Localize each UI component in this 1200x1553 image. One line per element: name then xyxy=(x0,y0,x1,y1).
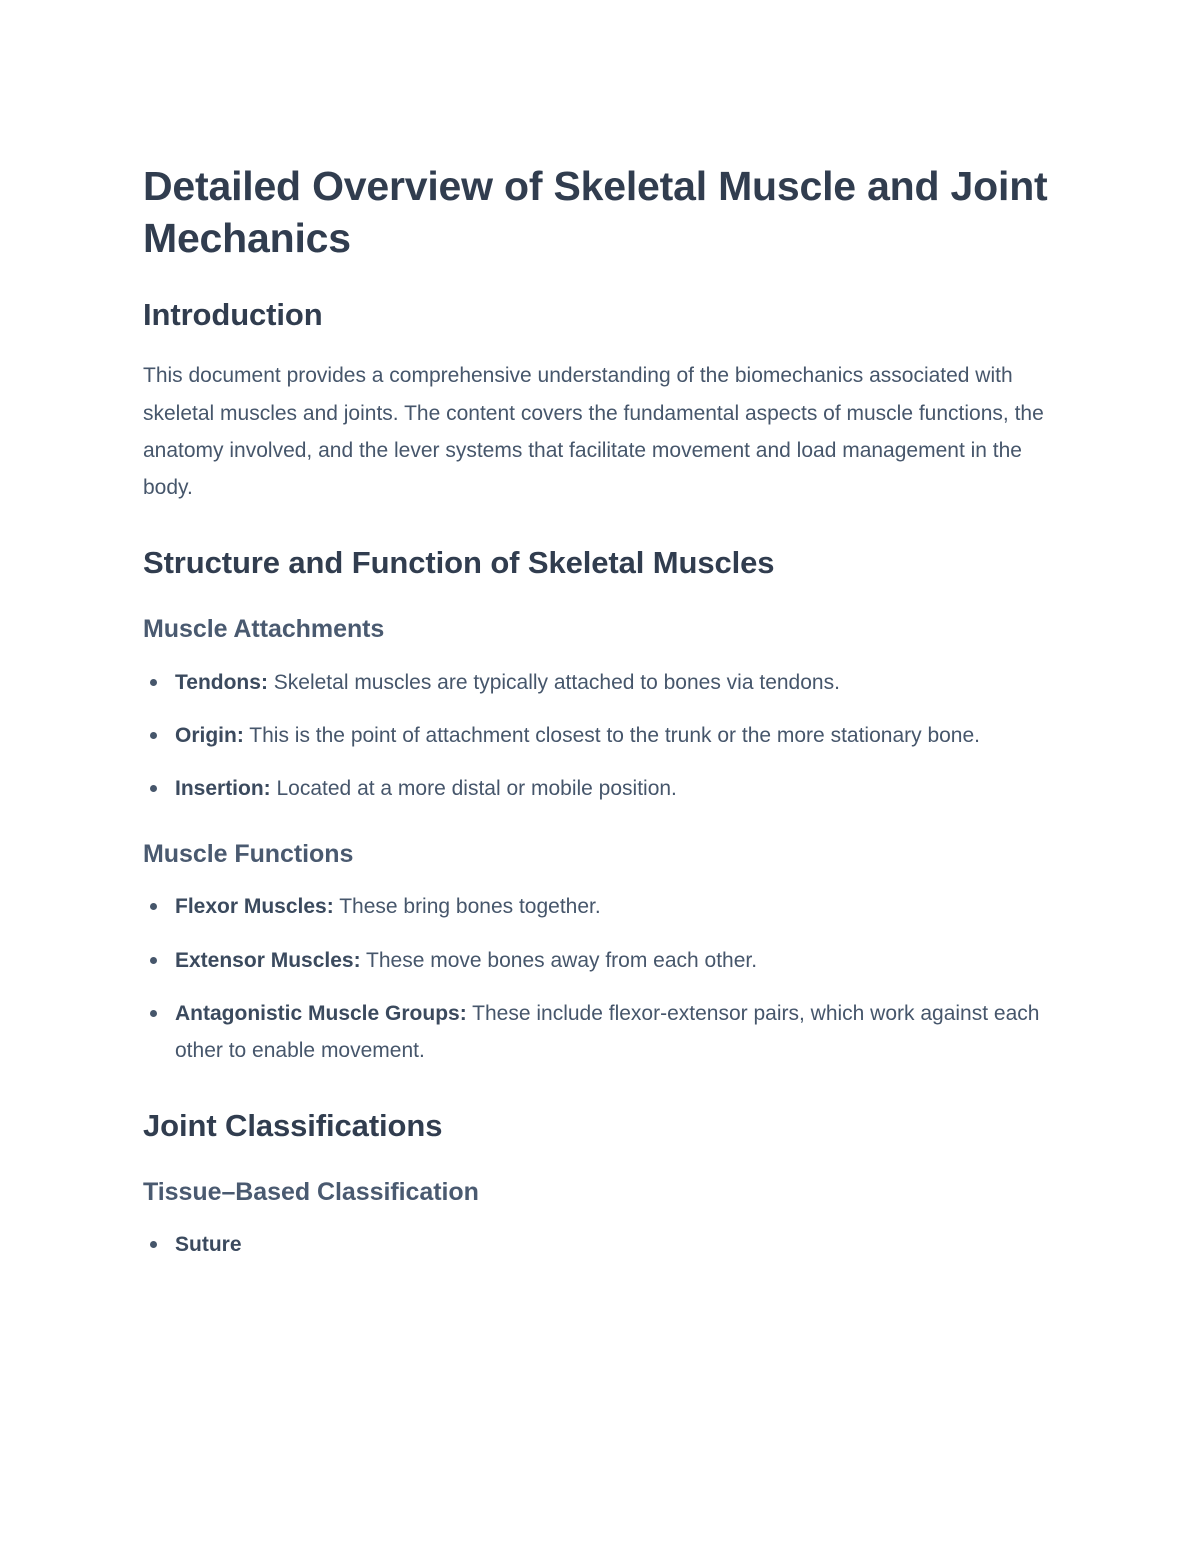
sub-heading-muscle-attachments: Muscle Attachments xyxy=(143,613,1050,646)
list-item: Extensor Muscles: These move bones away … xyxy=(143,942,1050,979)
page-title: Detailed Overview of Skeletal Muscle and… xyxy=(143,160,1050,265)
list-item-term: Flexor Muscles: xyxy=(175,895,334,918)
list-item-term: Insertion: xyxy=(175,777,271,800)
list-item: Origin: This is the point of attachment … xyxy=(143,717,1050,754)
list-item-text: These move bones away from each other. xyxy=(361,949,758,972)
list-item-term: Suture xyxy=(175,1233,242,1256)
sub-heading-tissue-based-classification: Tissue–Based Classification xyxy=(143,1176,1050,1209)
list-item-text: This is the point of attachment closest … xyxy=(244,724,980,747)
list-item-text: Skeletal muscles are typically attached … xyxy=(268,671,840,694)
document-body: Detailed Overview of Skeletal Muscle and… xyxy=(143,160,1050,1264)
section-heading-structure-and-function: Structure and Function of Skeletal Muscl… xyxy=(143,543,1050,583)
list-item-term: Extensor Muscles: xyxy=(175,949,361,972)
list-item: Tendons: Skeletal muscles are typically … xyxy=(143,664,1050,701)
tissue-based-classification-list: Suture xyxy=(143,1226,1050,1263)
list-item-text: Located at a more distal or mobile posit… xyxy=(271,777,677,800)
list-item: Suture xyxy=(143,1226,1050,1263)
list-item-term: Tendons: xyxy=(175,671,268,694)
muscle-attachments-list: Tendons: Skeletal muscles are typically … xyxy=(143,664,1050,808)
list-item-term: Origin: xyxy=(175,724,244,747)
section-heading-introduction: Introduction xyxy=(143,295,1050,335)
document-page: Detailed Overview of Skeletal Muscle and… xyxy=(0,0,1200,1553)
section-heading-joint-classifications: Joint Classifications xyxy=(143,1106,1050,1146)
list-item: Insertion: Located at a more distal or m… xyxy=(143,770,1050,807)
list-item-term: Antagonistic Muscle Groups: xyxy=(175,1002,467,1025)
sub-heading-muscle-functions: Muscle Functions xyxy=(143,838,1050,871)
introduction-paragraph: This document provides a comprehensive u… xyxy=(143,357,1050,507)
muscle-functions-list: Flexor Muscles: These bring bones togeth… xyxy=(143,888,1050,1070)
list-item-text: These bring bones together. xyxy=(334,895,601,918)
list-item: Flexor Muscles: These bring bones togeth… xyxy=(143,888,1050,925)
list-item: Antagonistic Muscle Groups: These includ… xyxy=(143,995,1050,1070)
